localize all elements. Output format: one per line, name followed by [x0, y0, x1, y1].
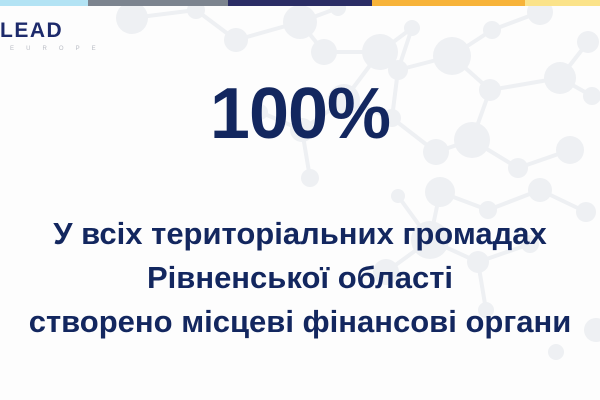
accent-segment-orange	[372, 0, 525, 6]
statistic-value: 100%	[0, 78, 600, 150]
body-line-3: створено місцеві фінансові органи	[0, 300, 600, 344]
top-accent-bar	[0, 0, 600, 6]
body-line-2: Рівненської області	[0, 256, 600, 300]
logo-wordmark: LEAD	[0, 20, 101, 41]
logo: LEAD E U R O P E	[0, 20, 101, 52]
accent-segment-light-yellow	[525, 0, 600, 6]
body-text-block: У всіх територіальних громадах Рівненськ…	[0, 212, 600, 344]
accent-segment-gray	[88, 0, 228, 6]
accent-segment-navy	[228, 0, 372, 6]
accent-segment-light-blue	[0, 0, 88, 6]
logo-subtitle: E U R O P E	[0, 46, 101, 52]
body-line-1: У всіх територіальних громадах	[0, 212, 600, 256]
slide-canvas: LEAD E U R O P E 100% У всіх територіаль…	[0, 0, 600, 400]
